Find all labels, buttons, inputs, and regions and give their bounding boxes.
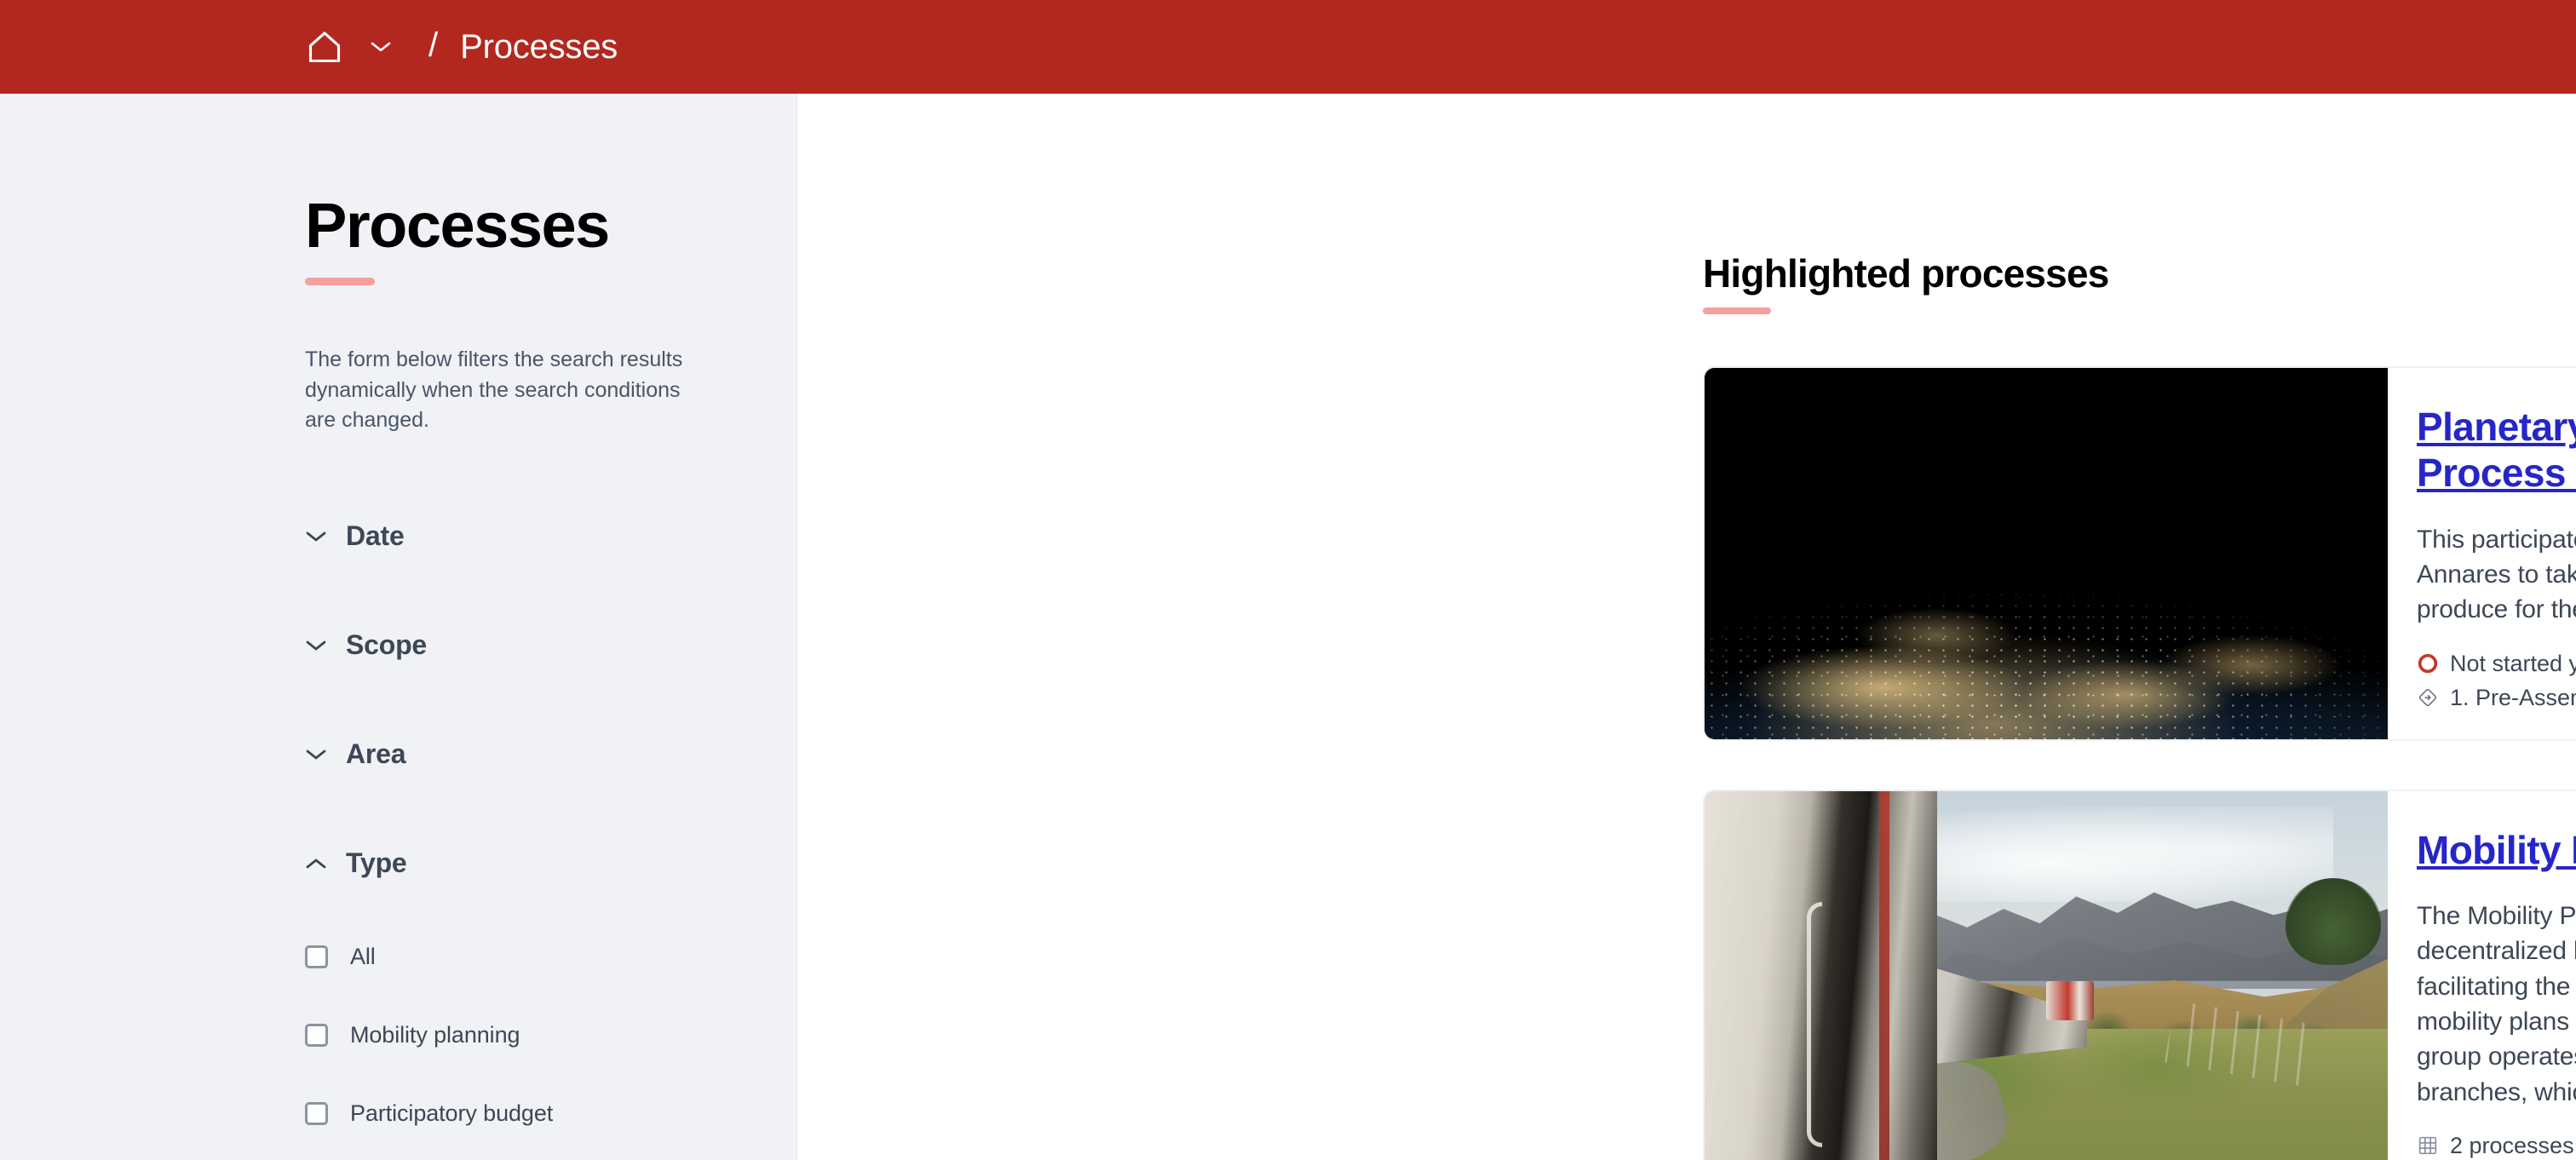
process-status-row: Not started yet <box>2417 648 2576 679</box>
filter-toggle-area[interactable]: Area <box>305 700 796 809</box>
section-heading: Highlighted processes <box>1703 254 2576 293</box>
section-heading-underline <box>1703 307 1771 314</box>
process-card-mppg[interactable]: Mobility Planning Process Group The Mobi… <box>1703 790 2576 1160</box>
process-card-body: Planetary Resource Production Process - … <box>2388 368 2576 739</box>
checkbox-mobility-planning[interactable] <box>305 1024 328 1047</box>
filter-group-scope: Scope <box>305 591 796 700</box>
filter-group-type: Type All Mobility planning <box>305 809 796 1153</box>
earth-from-space-at-night-photo <box>1705 368 2388 739</box>
filter-list: Date Scope Area <box>305 482 796 1153</box>
breadcrumb-current: Processes <box>460 28 618 66</box>
filter-option-label-mobility-planning: Mobility planning <box>350 1022 520 1048</box>
breadcrumb-chevron-down-icon[interactable] <box>359 25 403 69</box>
status-circle-icon <box>2417 652 2439 675</box>
filter-toggle-type[interactable]: Type <box>305 809 796 918</box>
breadcrumb-separator: / <box>428 28 438 62</box>
filters-sidebar: Processes The form below filters the sea… <box>0 94 797 1160</box>
process-count-group: 2 processes <box>2417 1130 2574 1160</box>
filter-option-label-all: All <box>350 944 376 970</box>
process-group-meta-row: 2 processes All planet <box>2417 1130 2576 1160</box>
filter-toggle-date[interactable]: Date <box>305 482 796 591</box>
process-card-image-earth <box>1705 368 2388 739</box>
chevron-down-icon <box>305 530 327 543</box>
filter-group-area: Area <box>305 700 796 809</box>
main-content: Help Highlighted processes Planetary Res… <box>797 94 2576 1160</box>
filter-toggle-scope[interactable]: Scope <box>305 591 796 700</box>
filter-options-type: All Mobility planning Participatory budg… <box>305 918 796 1153</box>
filter-option-mobility-planning[interactable]: Mobility planning <box>305 996 796 1075</box>
phase-diamond-icon <box>2417 686 2439 709</box>
process-card-list: Planetary Resource Production Process - … <box>1703 366 2576 1160</box>
chevron-down-icon <box>305 639 327 652</box>
checkbox-participatory-budget[interactable] <box>305 1102 328 1125</box>
train-in-mountain-valley-photo <box>1705 791 2388 1160</box>
process-card-image-train <box>1705 791 2388 1160</box>
page-title: Processes <box>305 194 796 257</box>
filter-description: The form below filters the search result… <box>305 345 690 436</box>
chevron-down-icon <box>305 748 327 761</box>
filter-label-date: Date <box>346 520 405 552</box>
chevron-up-icon <box>305 857 327 870</box>
page-shell: Processes The form below filters the sea… <box>0 94 2576 1160</box>
process-card-prpp[interactable]: Planetary Resource Production Process - … <box>1703 366 2576 741</box>
process-card-title-link[interactable]: Planetary Resource Production Process - … <box>2417 404 2576 497</box>
process-card-body: Mobility Planning Process Group The Mobi… <box>2388 791 2576 1160</box>
process-card-meta: Not started yet 1. Pre-Assembly: Gatheri… <box>2417 628 2576 714</box>
grid-icon <box>2417 1134 2439 1157</box>
filter-label-scope: Scope <box>346 629 427 661</box>
process-count-text: 2 processes <box>2450 1130 2574 1160</box>
process-status-text: Not started yet <box>2450 648 2576 679</box>
checkbox-all[interactable] <box>305 945 328 968</box>
page-title-underline <box>305 278 375 285</box>
filter-option-all[interactable]: All <box>305 918 796 996</box>
process-phase-row: 1. Pre-Assembly: Gathering Input from Co… <box>2417 682 2576 713</box>
filter-option-label-participatory-budget: Participatory budget <box>350 1100 553 1127</box>
top-header-bar: / Processes <box>0 0 2576 94</box>
filter-group-date: Date <box>305 482 796 591</box>
process-card-description: The Mobility Planning Process Group (MPP… <box>2417 899 2576 1110</box>
home-icon[interactable] <box>302 25 347 69</box>
filter-option-participatory-budget[interactable]: Participatory budget <box>305 1075 796 1153</box>
process-card-title-link[interactable]: Mobility Planning Process Group <box>2417 827 2576 873</box>
filter-label-type: Type <box>346 847 407 879</box>
process-phase-text: 1. Pre-Assembly: Gathering Input from Co… <box>2450 682 2576 713</box>
filter-label-area: Area <box>346 738 405 770</box>
process-card-description: This participatory process invites every… <box>2417 522 2576 628</box>
process-card-meta: 2 processes All planet <box>2417 1110 2576 1160</box>
